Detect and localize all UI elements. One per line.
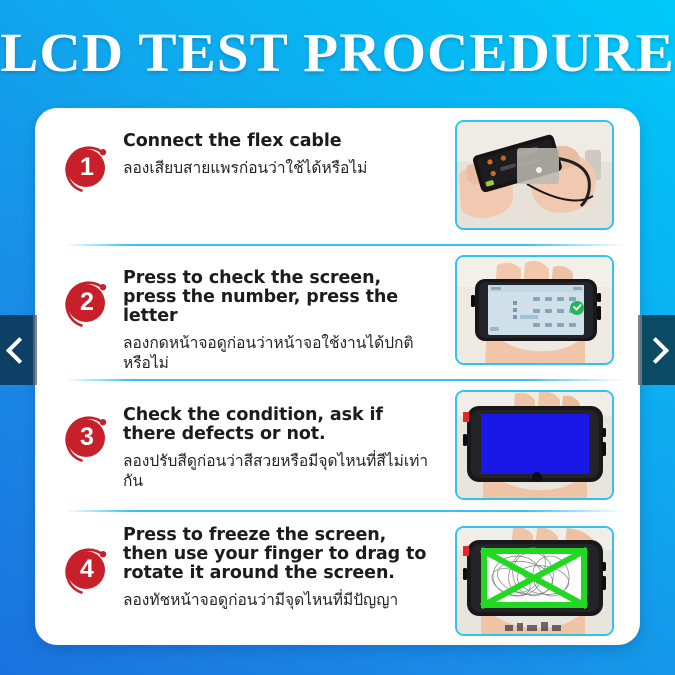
- step-title-th: ลองเสียบสายแพรก่อนว่าใช้ได้หรือไม่: [123, 158, 433, 178]
- photo-blue-screen-illustration: [457, 392, 612, 498]
- step-text-block: Press to freeze the screen, then use you…: [123, 526, 433, 610]
- page-title: LCD TEST PROCEDURE: [0, 22, 675, 84]
- steps-card: 1 Connect the flex cable ลองเสียบสายแพรก…: [35, 108, 640, 645]
- photo-touch-drag-illustration: [457, 528, 612, 634]
- step-number-label: 4: [59, 542, 113, 596]
- photo-blue-screen-test: [455, 390, 614, 500]
- step-text-block: Press to check the screen, press the num…: [123, 269, 433, 373]
- step-item: 2 Press to check the screen, press the n…: [35, 245, 640, 376]
- step-item: 4 Press to freeze the screen, then use y…: [35, 512, 640, 645]
- step-number-badge: 4: [59, 542, 113, 596]
- photo-touch-drag-test: [455, 526, 614, 636]
- chevron-right-icon: [642, 337, 669, 364]
- photo-dialer-keypad-illustration: [457, 257, 612, 363]
- step-title-th: ลองทัชหน้าจอดูก่อนว่ามีจุดไหนที่มีปัญญา: [123, 590, 433, 610]
- chevron-left-icon: [6, 337, 33, 364]
- step-title-th: ลองกดหน้าจอดูก่อนว่าหน้าจอใช้งานได้ปกติห…: [123, 333, 433, 373]
- step-title-en: Connect the flex cable: [123, 132, 433, 151]
- step-number-badge: 1: [59, 140, 113, 194]
- step-title-th: ลองปรับสีดูก่อนว่าสีสวยหรือมีจุดไหนที่สี…: [123, 451, 433, 491]
- step-item: 3 Check the condition, ask if there defe…: [35, 380, 640, 511]
- carousel-prev-button[interactable]: [0, 315, 33, 385]
- step-number-badge: 2: [59, 275, 113, 329]
- photo-dialer-keypad-test: [455, 255, 614, 365]
- poster-root: LCD TEST PROCEDURE 1 Connect the flex ca…: [0, 0, 675, 675]
- step-number-label: 1: [59, 140, 113, 194]
- step-title-en: Press to freeze the screen, then use you…: [123, 526, 433, 583]
- step-number-badge: 3: [59, 410, 113, 464]
- step-item: 1 Connect the flex cable ลองเสียบสายแพรก…: [35, 110, 640, 241]
- photo-connect-flex-cable: [455, 120, 614, 230]
- step-number-label: 2: [59, 275, 113, 329]
- step-number-label: 3: [59, 410, 113, 464]
- step-title-en: Check the condition, ask if there defect…: [123, 406, 433, 444]
- step-text-block: Check the condition, ask if there defect…: [123, 406, 433, 491]
- photo-connect-flex-cable-illustration: [457, 122, 612, 228]
- carousel-next-button[interactable]: [642, 315, 675, 385]
- step-title-en: Press to check the screen, press the num…: [123, 269, 433, 326]
- step-text-block: Connect the flex cable ลองเสียบสายแพรก่อ…: [123, 132, 433, 178]
